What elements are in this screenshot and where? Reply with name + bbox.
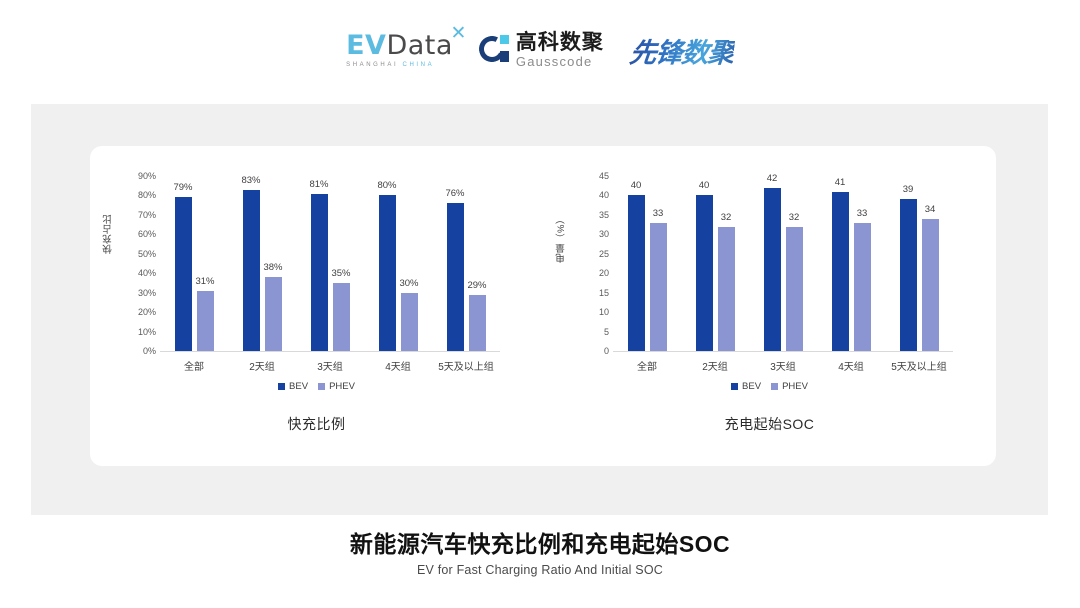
bar-value-label: 79% [173,182,192,193]
legend-item-bev[interactable]: BEV [278,381,308,392]
bar-bev[interactable]: 40 [696,195,713,351]
y-tick-label: 35 [599,210,609,220]
y-axis-ticks: 0%10%20%30%40%50%60%70%80%90% [120,176,156,351]
gausscode-square-light-icon [500,35,509,44]
plot-area: 40334032423241333934 [613,176,953,352]
chart-fast-charging-ratio: 快充占比0%10%20%30%40%50%60%70%80%90%79%31%8… [90,146,543,466]
chart-legend: BEVPHEV [543,381,996,392]
bar-group: 3934 [885,176,953,351]
legend-label: BEV [289,381,308,392]
bar-phev[interactable]: 32 [718,227,735,351]
gausscode-cn-label: 高科数聚 [516,32,604,53]
bar-bev[interactable]: 42 [764,188,781,351]
legend-item-phev[interactable]: PHEV [318,381,355,392]
bar-group: 4032 [681,176,749,351]
evdata-data-text: Data [386,30,452,61]
bar-phev[interactable]: 30% [401,293,418,351]
bar-phev[interactable]: 33 [650,223,667,351]
y-tick-label: 40 [599,190,609,200]
evdata-tagline-shanghai: SHANGHAI [346,62,398,68]
legend-label: BEV [742,381,761,392]
chart-initial-soc: 电量（%）05101520253035404540334032423241333… [543,146,996,466]
y-tick-label: 0% [143,346,156,356]
bar-value-label: 83% [241,175,260,186]
y-tick-label: 20% [138,307,156,317]
bar-value-label: 80% [377,180,396,191]
x-tick-label: 3天组 [296,358,364,373]
y-tick-label: 5 [604,327,609,337]
xianfeng-logo: 先锋数聚 [628,31,736,70]
y-tick-label: 45 [599,171,609,181]
bar-value-label: 40 [631,180,642,191]
evdata-tagline-china: CHINA [403,62,435,68]
y-tick-label: 90% [138,171,156,181]
y-tick-label: 70% [138,210,156,220]
bar-value-label: 38% [263,262,282,273]
bar-value-label: 32 [789,212,800,223]
bar-value-label: 34 [925,204,936,215]
y-tick-label: 10 [599,307,609,317]
evdata-tagline: SHANGHAI CHINA [346,62,434,68]
bar-value-label: 81% [309,179,328,190]
page-title: 新能源汽车快充比例和充电起始SOC [0,530,1080,559]
y-tick-label: 25 [599,249,609,259]
y-tick-label: 0 [604,346,609,356]
y-tick-label: 15 [599,288,609,298]
x-tick-label: 全部 [160,358,228,373]
x-tick-label: 3天组 [749,358,817,373]
bar-phev[interactable]: 32 [786,227,803,351]
bar-bev[interactable]: 41 [832,192,849,351]
legend-item-phev[interactable]: PHEV [771,381,808,392]
y-tick-label: 10% [138,327,156,337]
bar-value-label: 41 [835,177,846,188]
y-tick-label: 80% [138,190,156,200]
chart-caption: 充电起始SOC [543,414,996,434]
plot-wrapper: 快充占比0%10%20%30%40%50%60%70%80%90%79%31%8… [90,146,543,401]
evdata-logo: EVData✕ SHANGHAI CHINA [346,32,453,68]
page-subtitle: EV for Fast Charging Ratio And Initial S… [0,563,1080,577]
x-tick-label: 2天组 [228,358,296,373]
bar-group: 4033 [613,176,681,351]
logo-bar: EVData✕ SHANGHAI CHINA 高科数聚 Gausscode 先锋… [0,24,1080,76]
gausscode-logo: 高科数聚 Gausscode [479,32,604,68]
chart-legend: BEVPHEV [90,381,543,392]
bar-value-label: 39 [903,184,914,195]
bar-phev[interactable]: 33 [854,223,871,351]
bar-group: 4133 [817,176,885,351]
x-tick-label: 5天及以上组 [885,358,953,373]
bar-group: 83%38% [228,176,296,351]
bar-bev[interactable]: 80% [379,195,396,351]
bar-group: 76%29% [432,176,500,351]
bar-value-label: 29% [467,280,486,291]
y-axis-ticks: 051015202530354045 [573,176,609,351]
evdata-wordmark: EVData✕ [346,32,453,59]
bar-phev[interactable]: 38% [265,277,282,351]
bar-bev[interactable]: 81% [311,194,328,352]
bar-value-label: 35% [331,268,350,279]
gausscode-en-label: Gausscode [516,55,604,68]
gausscode-text: 高科数聚 Gausscode [516,32,604,68]
bar-phev[interactable]: 35% [333,283,350,351]
x-tick-label: 全部 [613,358,681,373]
bar-value-label: 30% [399,278,418,289]
bar-group: 79%31% [160,176,228,351]
bar-bev[interactable]: 83% [243,190,260,351]
legend-item-bev[interactable]: BEV [731,381,761,392]
legend-swatch-icon [771,383,778,390]
x-tick-label: 2天组 [681,358,749,373]
plot-wrapper: 电量（%）05101520253035404540334032423241333… [543,146,996,401]
evdata-cross-icon: ✕ [450,24,466,43]
bar-value-label: 32 [721,212,732,223]
bar-bev[interactable]: 40 [628,195,645,351]
y-tick-label: 60% [138,229,156,239]
chart-caption: 快充比例 [90,414,543,434]
bar-value-label: 76% [445,188,464,199]
y-axis-title: 快充占比 [102,214,116,254]
bar-value-label: 33 [857,208,868,219]
gausscode-mark-icon [479,35,509,65]
y-tick-label: 20 [599,268,609,278]
bar-group: 4232 [749,176,817,351]
bar-bev[interactable]: 79% [175,197,192,351]
bar-value-label: 31% [195,276,214,287]
bar-phev[interactable]: 31% [197,291,214,351]
x-axis-ticks: 全部2天组3天组4天组5天及以上组 [160,358,500,373]
legend-label: PHEV [329,381,355,392]
footer: 新能源汽车快充比例和充电起始SOC EV for Fast Charging R… [0,530,1080,577]
legend-label: PHEV [782,381,808,392]
charts-row: 快充占比0%10%20%30%40%50%60%70%80%90%79%31%8… [90,146,996,466]
bar-value-label: 40 [699,180,710,191]
x-axis-ticks: 全部2天组3天组4天组5天及以上组 [613,358,953,373]
x-tick-label: 5天及以上组 [432,358,500,373]
x-tick-label: 4天组 [364,358,432,373]
gausscode-square-dark-icon [500,51,509,62]
y-tick-label: 30 [599,229,609,239]
bar-value-label: 42 [767,173,778,184]
legend-swatch-icon [278,383,285,390]
y-tick-label: 40% [138,268,156,278]
y-axis-title: 电量（%） [555,214,569,263]
legend-swatch-icon [318,383,325,390]
x-tick-label: 4天组 [817,358,885,373]
bar-bev[interactable]: 39 [900,199,917,351]
y-tick-label: 30% [138,288,156,298]
bar-group: 81%35% [296,176,364,351]
evdata-ev-text: EV [346,30,386,61]
bar-bev[interactable]: 76% [447,203,464,351]
legend-swatch-icon [731,383,738,390]
bar-value-label: 33 [653,208,664,219]
y-tick-label: 50% [138,249,156,259]
bar-group: 80%30% [364,176,432,351]
plot-area: 79%31%83%38%81%35%80%30%76%29% [160,176,500,352]
bar-phev[interactable]: 29% [469,295,486,351]
bar-phev[interactable]: 34 [922,219,939,351]
